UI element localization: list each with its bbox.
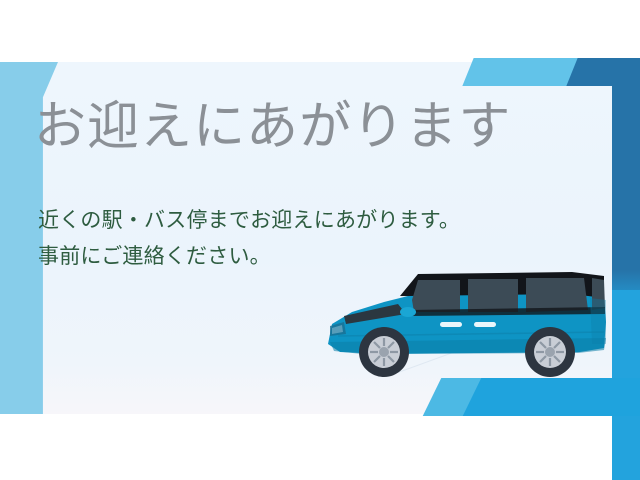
minivan-illustration [322, 252, 618, 388]
banner-body-line-1: 近くの駅・バス停までお迎えにあがります。 [38, 202, 460, 238]
banner-canvas: お迎えにあがります 近くの駅・バス停までお迎えにあがります。 事前にご連絡くださ… [0, 0, 640, 480]
banner-title: お迎えにあがります [34, 96, 511, 158]
